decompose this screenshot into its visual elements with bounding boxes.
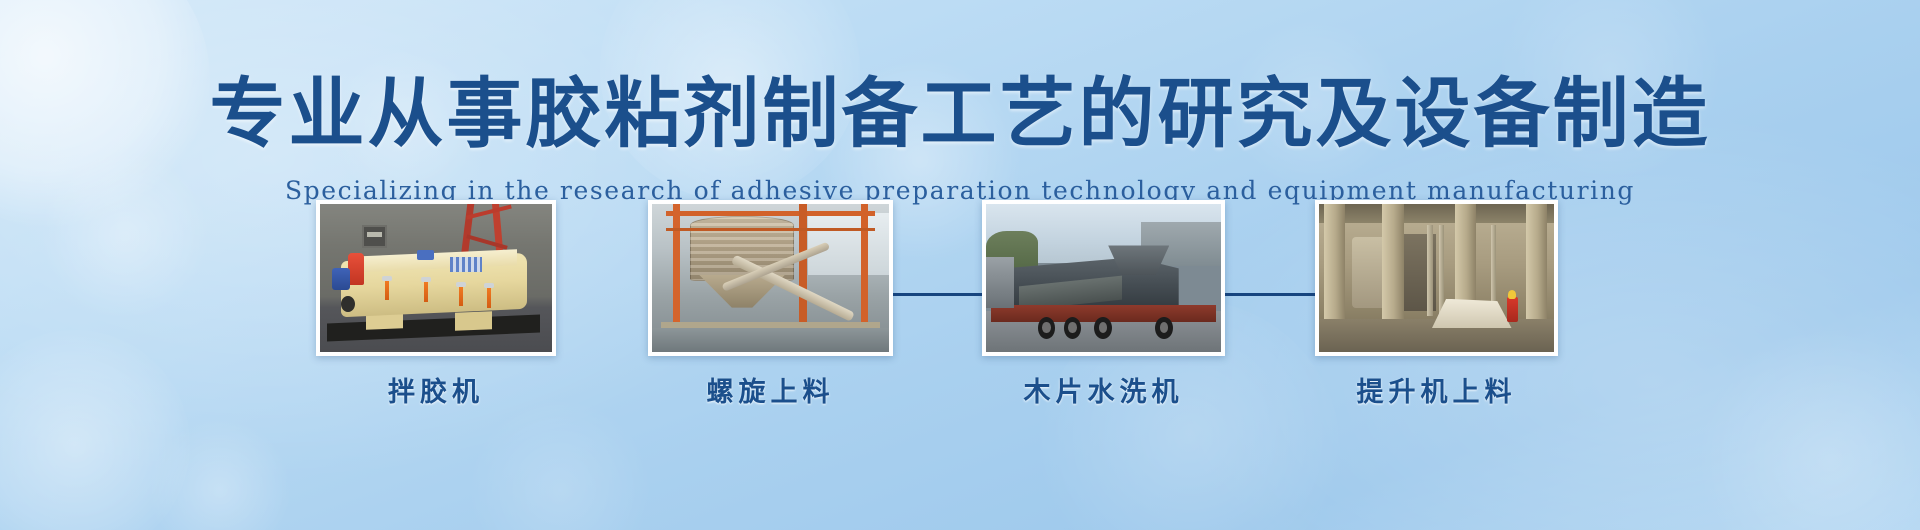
- process-card-elevator-feeding[interactable]: 提升机上料: [1315, 200, 1558, 409]
- process-photo-strip: 拌胶机 螺旋上料: [0, 245, 1920, 475]
- process-card-caption: 螺旋上料: [648, 370, 893, 409]
- banner-headline: 专业从事胶粘剂制备工艺的研究及设备制造: [0, 52, 1920, 162]
- hero-banner: 专业从事胶粘剂制备工艺的研究及设备制造 Specializing in the …: [0, 0, 1920, 530]
- process-card-chip-washer[interactable]: 木片水洗机: [982, 200, 1225, 409]
- bucket-elevator-feeding-photo[interactable]: [1315, 200, 1558, 356]
- adhesive-mixer-photo[interactable]: [316, 200, 556, 356]
- screw-conveyor-feeding-photo[interactable]: [648, 200, 893, 356]
- connector-line-2: [1225, 293, 1315, 296]
- process-card-mixer[interactable]: 拌胶机: [316, 200, 556, 409]
- process-card-caption: 提升机上料: [1315, 370, 1558, 409]
- process-card-caption: 拌胶机: [316, 370, 556, 409]
- process-card-caption: 木片水洗机: [982, 370, 1225, 409]
- wood-chip-washing-machine-photo[interactable]: [982, 200, 1225, 356]
- banner-subheadline: Specializing in the research of adhesive…: [0, 176, 1920, 205]
- process-card-screw-feeder[interactable]: 螺旋上料: [648, 200, 893, 409]
